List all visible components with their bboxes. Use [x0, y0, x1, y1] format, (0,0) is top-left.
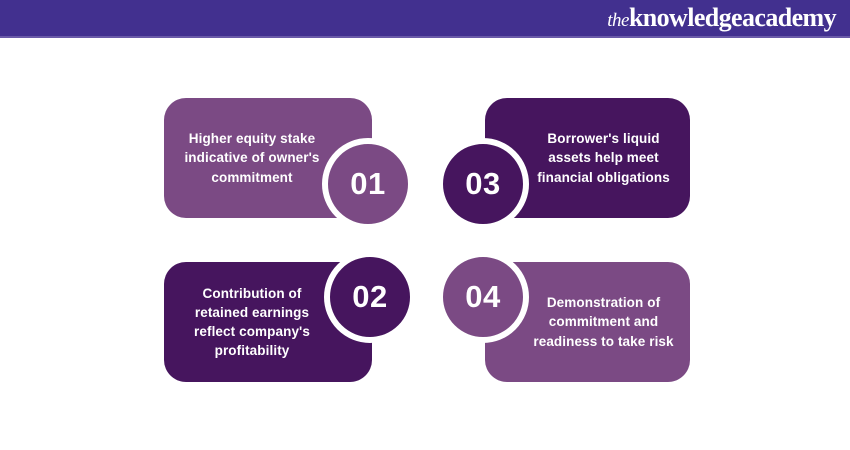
info-card-02-text: Contribution of retained earnings reflec…: [178, 284, 326, 361]
header-bar: theknowledgeacademy: [0, 0, 850, 36]
info-card-01-text: Higher equity stake indicative of owner'…: [178, 129, 326, 186]
info-card-03-text: Borrower's liquid assets help meet finan…: [531, 129, 676, 186]
brand-logo-the: the: [607, 10, 629, 31]
brand-logo-main: knowledgeacademy: [629, 3, 836, 32]
number-badge-03: 03: [437, 138, 529, 230]
brand-logo: theknowledgeacademy: [607, 5, 836, 31]
number-badge-01: 01: [322, 138, 414, 230]
cards-area: Higher equity stake indicative of owner'…: [0, 38, 850, 450]
number-badge-04: 04: [437, 251, 529, 343]
number-badge-02: 02: [324, 251, 416, 343]
info-card-04-text: Demonstration of commitment and readines…: [531, 293, 676, 350]
